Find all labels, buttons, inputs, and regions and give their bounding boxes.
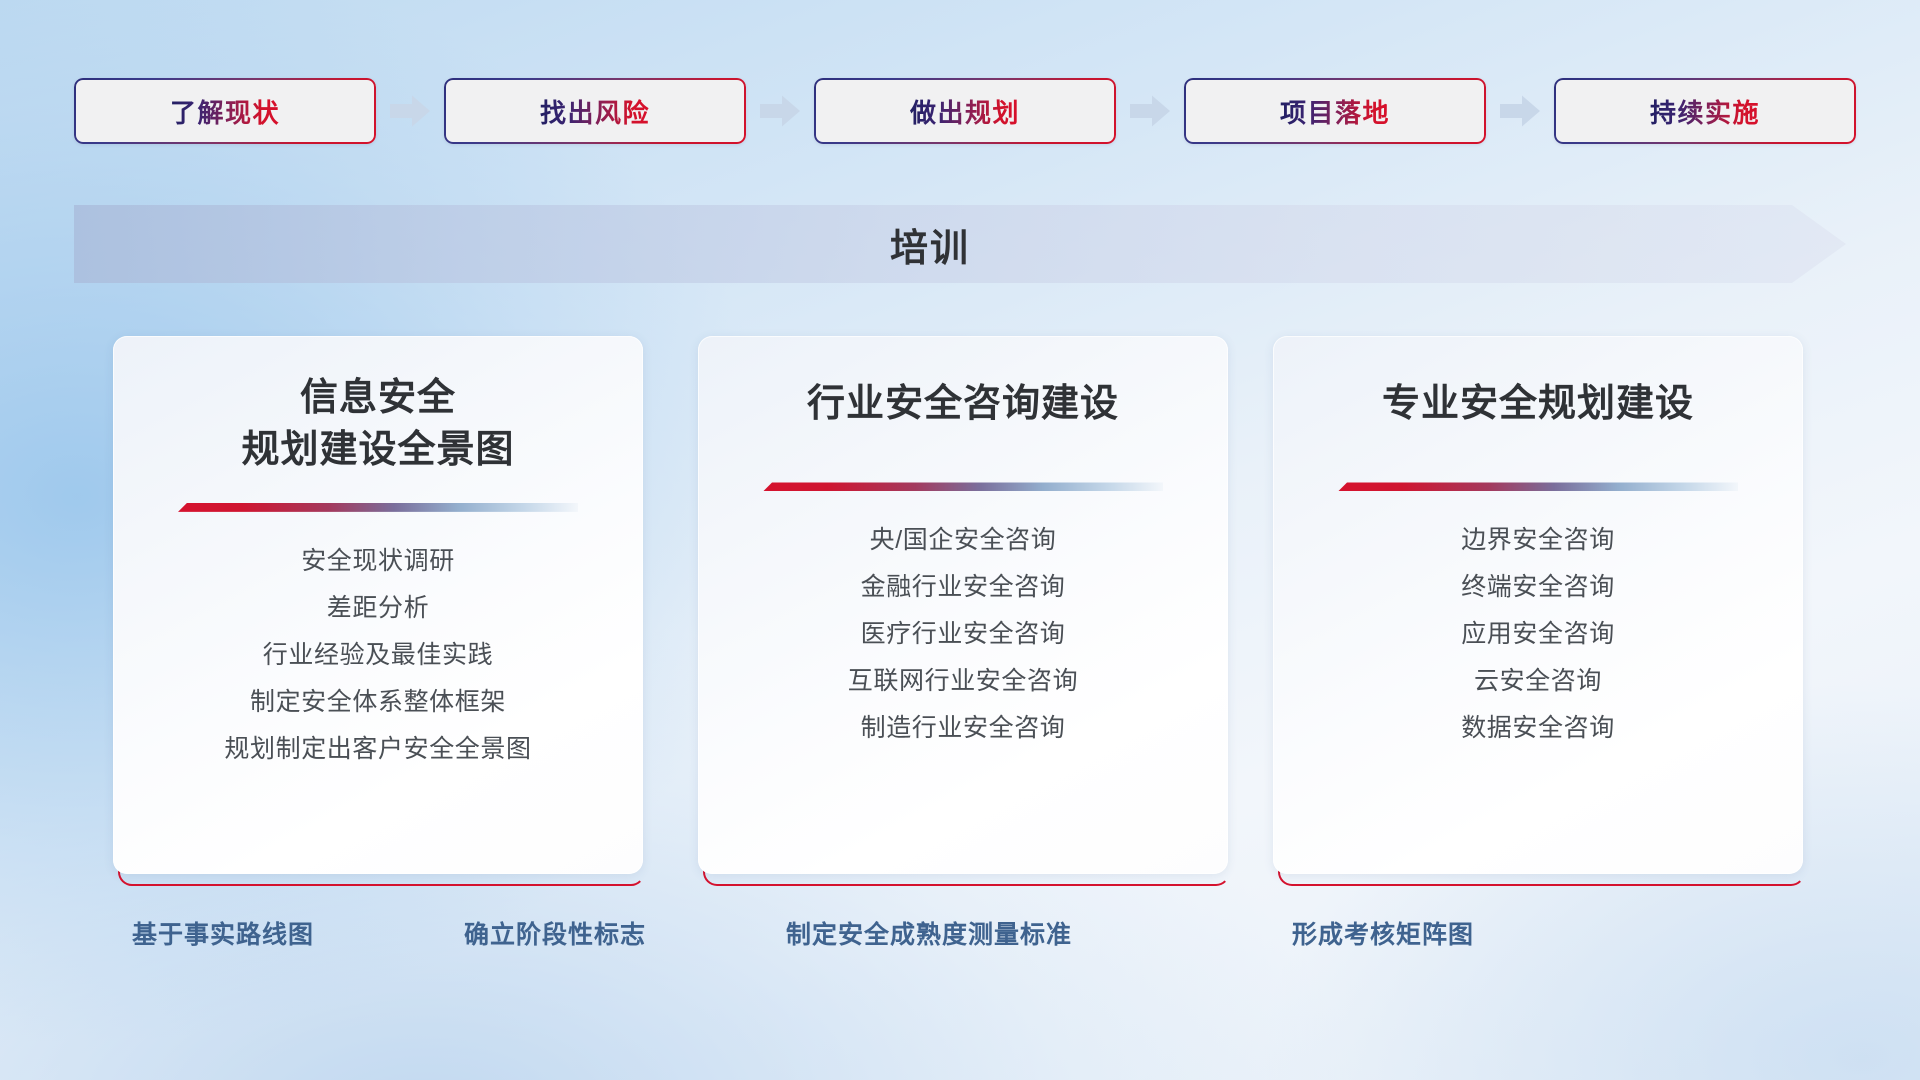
process-step-3[interactable]: 做出规划 — [814, 78, 1116, 144]
card-title-line: 信息安全 — [141, 372, 615, 424]
list-item[interactable]: 制定安全体系整体框架 — [141, 679, 615, 726]
card-item-list-3: 边界安全咨询 终端安全咨询 应用安全咨询 云安全咨询 数据安全咨询 — [1301, 517, 1775, 752]
caption-3: 制定安全成熟度测量标准 — [786, 915, 1072, 951]
list-item[interactable]: 金融行业安全咨询 — [726, 564, 1200, 611]
process-step-label-1: 了解现状 — [170, 93, 280, 130]
card-item-list-2: 央/国企安全咨询 金融行业安全咨询 医疗行业安全咨询 互联网行业安全咨询 制造行… — [726, 517, 1200, 752]
card-title-line: 行业安全咨询建设 — [726, 378, 1200, 430]
card-title-2: 行业安全咨询建设 — [726, 378, 1200, 430]
card-divider-bar — [1338, 482, 1738, 491]
service-card-body-3[interactable]: 专业安全规划建设 边界安全咨询 终端安全咨询 应用安全咨询 云安全咨询 数据安全… — [1273, 336, 1803, 874]
card-divider-bar — [763, 482, 1163, 491]
service-card-3[interactable]: 专业安全规划建设 边界安全咨询 终端安全咨询 应用安全咨询 云安全咨询 数据安全… — [1273, 336, 1803, 874]
arrow-right-icon — [376, 78, 444, 144]
card-title-line: 专业安全规划建设 — [1301, 378, 1775, 430]
process-step-2[interactable]: 找出风险 — [444, 78, 746, 144]
process-step-4[interactable]: 项目落地 — [1184, 78, 1486, 144]
list-item[interactable]: 应用安全咨询 — [1301, 611, 1775, 658]
process-step-box-2[interactable]: 找出风险 — [444, 78, 746, 144]
process-step-1[interactable]: 了解现状 — [74, 78, 376, 144]
list-item[interactable]: 差距分析 — [141, 585, 615, 632]
list-item[interactable]: 安全现状调研 — [141, 538, 615, 585]
process-step-5[interactable]: 持续实施 — [1554, 78, 1856, 144]
list-item[interactable]: 数据安全咨询 — [1301, 705, 1775, 752]
card-divider-3 — [1338, 482, 1738, 491]
service-card-row: 信息安全 规划建设全景图 安全现状调研 差距分析 行业经验及最佳实践 制定安全体… — [0, 336, 1920, 876]
caption-row: 基于事实路线图 确立阶段性标志 制定安全成熟度测量标准 形成考核矩阵图 — [0, 915, 1920, 965]
card-title-1: 信息安全 规划建设全景图 — [141, 372, 615, 477]
process-step-row: 了解现状 找出风险 做出规划 项目落地 — [74, 78, 1854, 144]
list-item[interactable]: 终端安全咨询 — [1301, 564, 1775, 611]
card-divider-bar — [178, 503, 578, 512]
training-banner-label: 培训 — [74, 205, 1846, 283]
process-step-box-4[interactable]: 项目落地 — [1184, 78, 1486, 144]
list-item[interactable]: 互联网行业安全咨询 — [726, 658, 1200, 705]
caption-2: 确立阶段性标志 — [464, 915, 646, 951]
process-step-box-3[interactable]: 做出规划 — [814, 78, 1116, 144]
card-divider-1 — [178, 503, 578, 512]
list-item[interactable]: 规划制定出客户安全全景图 — [141, 726, 615, 773]
service-card-1[interactable]: 信息安全 规划建设全景图 安全现状调研 差距分析 行业经验及最佳实践 制定安全体… — [113, 336, 643, 874]
card-item-list-1: 安全现状调研 差距分析 行业经验及最佳实践 制定安全体系整体框架 规划制定出客户… — [141, 538, 615, 773]
process-step-label-3: 做出规划 — [910, 93, 1020, 130]
service-card-2[interactable]: 行业安全咨询建设 央/国企安全咨询 金融行业安全咨询 医疗行业安全咨询 互联网行… — [698, 336, 1228, 874]
list-item[interactable]: 行业经验及最佳实践 — [141, 632, 615, 679]
service-card-body-2[interactable]: 行业安全咨询建设 央/国企安全咨询 金融行业安全咨询 医疗行业安全咨询 互联网行… — [698, 336, 1228, 874]
arrow-right-icon — [1486, 78, 1554, 144]
card-title-line: 规划建设全景图 — [141, 424, 615, 476]
list-item[interactable]: 制造行业安全咨询 — [726, 705, 1200, 752]
list-item[interactable]: 云安全咨询 — [1301, 658, 1775, 705]
caption-4: 形成考核矩阵图 — [1292, 915, 1474, 951]
arrow-right-icon — [746, 78, 814, 144]
list-item[interactable]: 央/国企安全咨询 — [726, 517, 1200, 564]
process-step-label-5: 持续实施 — [1650, 93, 1760, 130]
process-step-label-2: 找出风险 — [540, 93, 650, 130]
service-card-body-1[interactable]: 信息安全 规划建设全景图 安全现状调研 差距分析 行业经验及最佳实践 制定安全体… — [113, 336, 643, 874]
training-banner: 培训 — [74, 205, 1846, 283]
card-title-3: 专业安全规划建设 — [1301, 378, 1775, 430]
process-step-label-4: 项目落地 — [1280, 93, 1390, 130]
card-divider-2 — [763, 482, 1163, 491]
caption-1: 基于事实路线图 — [132, 915, 314, 951]
list-item[interactable]: 边界安全咨询 — [1301, 517, 1775, 564]
process-step-box-5[interactable]: 持续实施 — [1554, 78, 1856, 144]
list-item[interactable]: 医疗行业安全咨询 — [726, 611, 1200, 658]
arrow-right-icon — [1116, 78, 1184, 144]
process-step-box-1[interactable]: 了解现状 — [74, 78, 376, 144]
